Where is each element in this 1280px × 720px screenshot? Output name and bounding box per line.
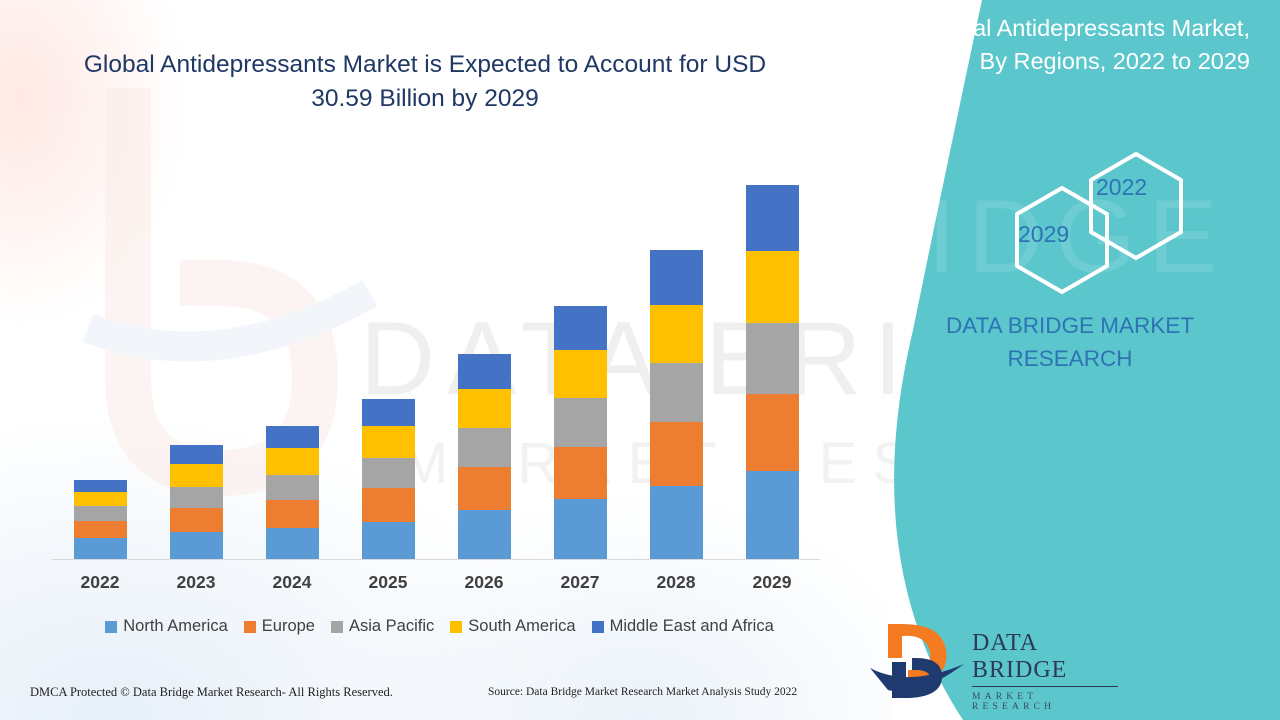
bar-segment[interactable] xyxy=(650,305,703,364)
bar-segment[interactable] xyxy=(458,354,511,389)
chart-plot-area xyxy=(52,150,820,560)
footer-copyright: DMCA Protected © Data Bridge Market Rese… xyxy=(30,685,393,700)
bar-column xyxy=(532,306,628,559)
legend-label: South America xyxy=(468,617,575,636)
data-bridge-logo-icon xyxy=(868,618,968,704)
legend-swatch xyxy=(592,621,604,633)
legend-item[interactable]: Middle East and Africa xyxy=(592,617,774,636)
bar-segment[interactable] xyxy=(266,475,319,501)
bar-segment[interactable] xyxy=(362,399,415,426)
bar-segment[interactable] xyxy=(650,422,703,486)
legend-label: Europe xyxy=(262,617,315,636)
bar-column xyxy=(52,480,148,559)
bar-segment[interactable] xyxy=(458,467,511,510)
legend-label: Middle East and Africa xyxy=(610,617,774,636)
bar-segment[interactable] xyxy=(170,445,223,463)
bar-segment[interactable] xyxy=(74,521,127,538)
bar-column xyxy=(244,426,340,559)
company-logo: DATA BRIDGE MARKET RESEARCH xyxy=(868,618,1118,704)
bar-segment[interactable] xyxy=(74,480,127,492)
bar-column xyxy=(628,250,724,559)
bar-column xyxy=(436,354,532,559)
legend-item[interactable]: Europe xyxy=(244,617,315,636)
stacked-bar[interactable] xyxy=(362,399,415,559)
x-tick-label: 2027 xyxy=(532,572,628,593)
legend-label: Asia Pacific xyxy=(349,617,434,636)
bar-segment[interactable] xyxy=(650,250,703,305)
panel-brand-name: DATA BRIDGE MARKET RESEARCH xyxy=(920,310,1220,375)
bar-segment[interactable] xyxy=(650,363,703,422)
legend-swatch xyxy=(450,621,462,633)
bar-column xyxy=(148,445,244,559)
stacked-bar[interactable] xyxy=(458,354,511,559)
bar-segment[interactable] xyxy=(362,488,415,522)
legend-swatch xyxy=(331,621,343,633)
legend-item[interactable]: South America xyxy=(450,617,575,636)
bar-segment[interactable] xyxy=(554,350,607,398)
bar-column xyxy=(724,185,820,559)
hexagon-graphic xyxy=(850,150,1280,285)
bar-segment[interactable] xyxy=(746,471,799,559)
hexagon-label-end-year: 2029 xyxy=(1018,221,1069,248)
bar-segment[interactable] xyxy=(170,508,223,532)
legend-swatch xyxy=(244,621,256,633)
bar-group xyxy=(52,150,820,559)
stacked-bar[interactable] xyxy=(746,185,799,559)
x-tick-label: 2022 xyxy=(52,572,148,593)
bar-segment[interactable] xyxy=(74,506,127,521)
bar-segment[interactable] xyxy=(746,185,799,251)
logo-primary-text: DATA BRIDGE xyxy=(972,630,1118,684)
x-axis-line xyxy=(52,559,820,560)
bar-segment[interactable] xyxy=(362,522,415,559)
panel-title: Global Antidepressants Market, By Region… xyxy=(890,12,1250,79)
bar-segment[interactable] xyxy=(458,510,511,559)
x-axis-tick-labels: 20222023202420252026202720282029 xyxy=(52,572,820,593)
chart-legend: North AmericaEuropeAsia PacificSouth Ame… xyxy=(52,617,827,636)
bar-segment[interactable] xyxy=(170,532,223,559)
x-tick-label: 2026 xyxy=(436,572,532,593)
bar-segment[interactable] xyxy=(650,486,703,559)
footer-source: Source: Data Bridge Market Research Mark… xyxy=(488,686,797,698)
stacked-bar[interactable] xyxy=(650,250,703,559)
bar-segment[interactable] xyxy=(266,528,319,559)
brand-panel: RIDGE Global Antidepressants Market, By … xyxy=(850,0,1280,720)
logo-divider xyxy=(972,686,1118,687)
bar-segment[interactable] xyxy=(74,538,127,559)
x-tick-label: 2025 xyxy=(340,572,436,593)
bar-segment[interactable] xyxy=(362,458,415,489)
legend-label: North America xyxy=(123,617,228,636)
hexagon-label-start-year: 2022 xyxy=(1096,174,1147,201)
logo-secondary-text: MARKET RESEARCH xyxy=(972,692,1118,712)
bar-segment[interactable] xyxy=(266,500,319,528)
bar-segment[interactable] xyxy=(458,389,511,428)
bar-segment[interactable] xyxy=(746,394,799,471)
bar-segment[interactable] xyxy=(266,426,319,448)
stacked-bar[interactable] xyxy=(266,426,319,559)
legend-item[interactable]: North America xyxy=(105,617,228,636)
bar-column xyxy=(340,399,436,559)
bar-segment[interactable] xyxy=(554,306,607,350)
logo-wordmark: DATA BRIDGE MARKET RESEARCH xyxy=(972,630,1118,712)
bar-segment[interactable] xyxy=(554,499,607,559)
bar-segment[interactable] xyxy=(746,323,799,394)
bar-segment[interactable] xyxy=(266,448,319,475)
bar-segment[interactable] xyxy=(554,398,607,447)
stacked-bar[interactable] xyxy=(554,306,607,559)
stacked-bar[interactable] xyxy=(170,445,223,559)
bar-segment[interactable] xyxy=(746,251,799,323)
bar-segment[interactable] xyxy=(458,428,511,467)
x-tick-label: 2024 xyxy=(244,572,340,593)
legend-swatch xyxy=(105,621,117,633)
x-tick-label: 2023 xyxy=(148,572,244,593)
bar-segment[interactable] xyxy=(170,487,223,508)
legend-item[interactable]: Asia Pacific xyxy=(331,617,434,636)
x-tick-label: 2029 xyxy=(724,572,820,593)
bar-segment[interactable] xyxy=(170,464,223,487)
stacked-bar[interactable] xyxy=(74,480,127,559)
x-tick-label: 2028 xyxy=(628,572,724,593)
bar-segment[interactable] xyxy=(554,447,607,500)
bar-segment[interactable] xyxy=(74,492,127,507)
chart-title: Global Antidepressants Market is Expecte… xyxy=(60,48,790,116)
bar-segment[interactable] xyxy=(362,426,415,458)
